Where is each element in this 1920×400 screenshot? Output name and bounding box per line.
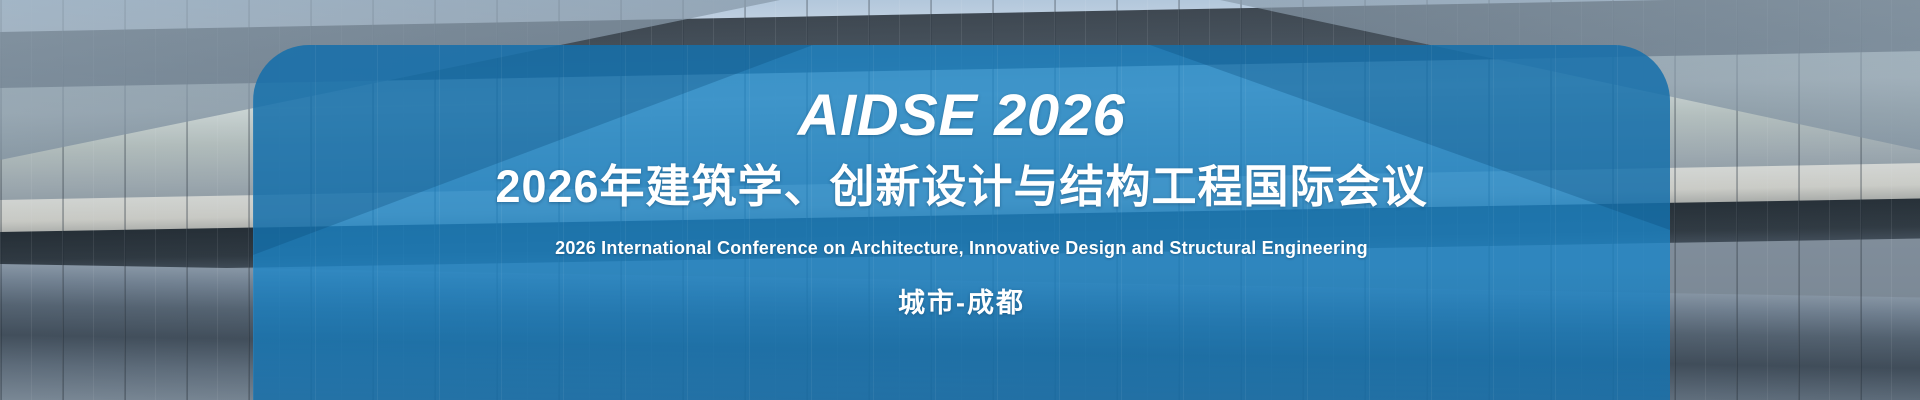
blue-overlay-panel: AIDSE 2026 2026年建筑学、创新设计与结构工程国际会议 2026 I…	[253, 45, 1670, 400]
conference-banner: AIDSE 2026 2026年建筑学、创新设计与结构工程国际会议 2026 I…	[0, 0, 1920, 400]
conference-acronym: AIDSE 2026	[798, 87, 1125, 145]
conference-city: 城市-成都	[898, 287, 1025, 319]
conference-title-chinese: 2026年建筑学、创新设计与结构工程国际会议	[495, 163, 1427, 212]
conference-title-english: 2026 International Conference on Archite…	[555, 238, 1368, 260]
banner-text-block: AIDSE 2026 2026年建筑学、创新设计与结构工程国际会议 2026 I…	[253, 45, 1670, 400]
